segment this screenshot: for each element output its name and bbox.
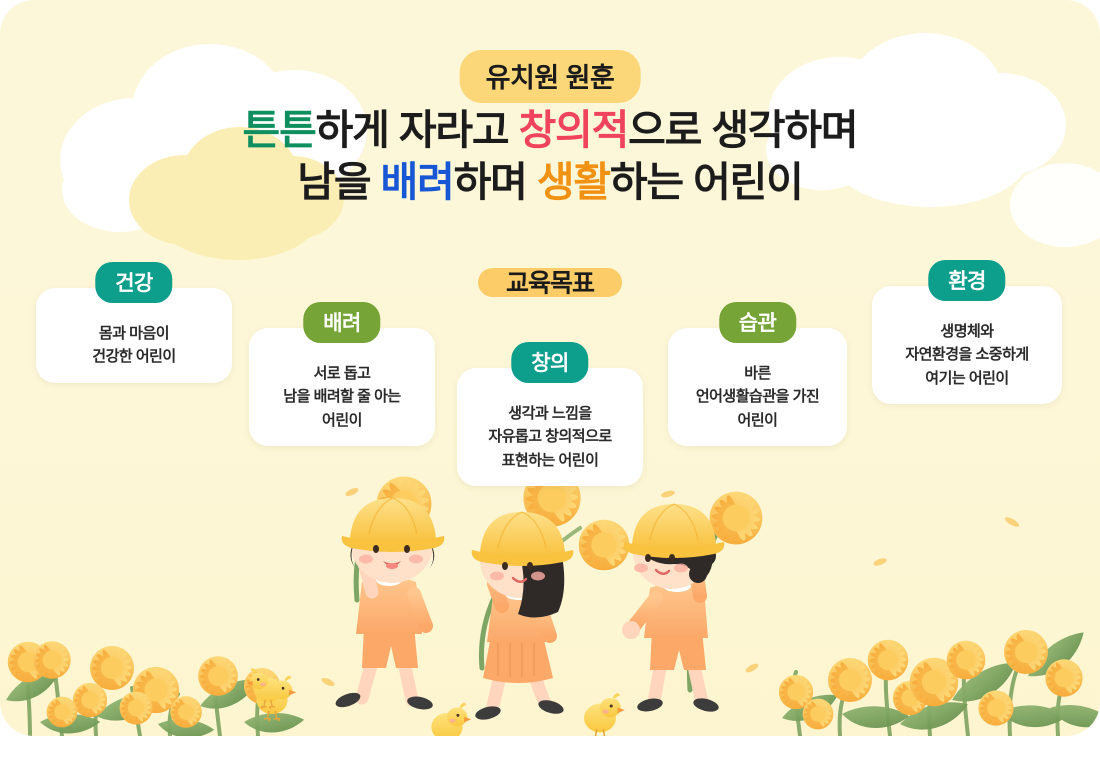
goal-line: 바른 [680,362,835,385]
slogan-keyword-healthy: 튼튼 [243,107,316,153]
slogan: 튼튼하게 자라고 창의적으로 생각하며 남을 배려하며 생활하는 어린이 [0,104,1100,209]
slogan-text-1b: 으로 생각하며 [628,107,857,153]
goal-line: 서로 돕고 [261,362,423,385]
motto-badge: 유치원 원훈 [460,50,641,103]
goal-card-habit[interactable]: 습관 바른 언어생활습관을 가진 어린이 [668,328,847,446]
goal-body-habit: 바른 언어생활습관을 가진 어린이 [668,328,847,446]
goal-line: 자유롭고 창의적으로 [469,425,631,448]
slogan-text-1a: 하게 자라고 [316,107,519,153]
goal-line: 생명체와 [884,320,1050,343]
goal-badge-habit: 습관 [719,302,796,343]
goal-badge-health: 건강 [95,262,172,303]
kindergarten-motto-poster: 유치원 원훈 튼튼하게 자라고 창의적으로 생각하며 남을 배려하며 생활하는 … [0,0,1100,776]
slogan-text-2b: 하며 [454,159,537,205]
goal-card-consideration[interactable]: 배려 서로 돕고 남을 배려할 줄 아는 어린이 [249,328,435,446]
slogan-keyword-consideration: 배려 [381,159,454,205]
child-boy-raising-flower-icon [334,473,445,712]
goal-line: 표현하는 어린이 [469,449,631,472]
dandelion-flowers-left-icon [1,641,305,736]
goal-body-creativity: 생각과 느낌을 자유롭고 창의적으로 표현하는 어린이 [457,368,643,486]
goal-badge-label-habit: 습관 [739,312,776,335]
motto-badge-label: 유치원 원훈 [486,63,615,93]
goal-line: 언어생활습관을 가진 [680,385,835,408]
slogan-keyword-life: 생활 [537,159,610,205]
goal-line: 건강한 어린이 [48,345,220,368]
child-boy-walking-flower-icon [622,489,765,714]
goal-badge-label-health: 건강 [115,272,152,295]
goal-body-consideration: 서로 돕고 남을 배려할 줄 아는 어린이 [249,328,435,446]
slogan-keyword-creative: 창의적 [519,107,629,153]
goal-line: 여기는 어린이 [884,367,1050,390]
goal-card-health[interactable]: 건강 몸과 마음이 건강한 어린이 [36,288,232,383]
goal-line: 어린이 [261,409,423,432]
goal-line: 몸과 마음이 [48,322,220,345]
slogan-line-1: 튼튼하게 자라고 창의적으로 생각하며 [0,104,1100,156]
goal-line: 어린이 [680,409,835,432]
slogan-text-2c: 하는 어린이 [610,159,803,205]
chick-right-icon [584,693,625,736]
goal-card-creativity[interactable]: 창의 생각과 느낌을 자유롭고 창의적으로 표현하는 어린이 [457,368,643,486]
chick-left-icon [256,676,296,721]
goal-badge-creativity: 창의 [511,342,588,383]
dandelion-flowers-right-icon [779,628,1100,736]
goal-line: 자연환경을 소중하게 [884,343,1050,366]
goal-card-environment[interactable]: 환경 생명체와 자연환경을 소중하게 여기는 어린이 [872,286,1062,404]
goal-line: 남을 배려할 줄 아는 [261,385,423,408]
goal-badge-environment: 환경 [928,260,1005,301]
goal-badge-label-creativity: 창의 [531,352,568,375]
chick-far-left-icon [246,668,282,709]
goal-line: 생각과 느낌을 [469,402,631,425]
education-goals-label: 교육목표 [478,268,622,297]
goal-badge-consideration: 배려 [303,302,380,343]
floating-petals-icon [320,486,1080,736]
slogan-line-2: 남을 배려하며 생활하는 어린이 [0,156,1100,208]
goal-badge-label-consideration: 배려 [323,312,360,335]
slogan-text-2a: 남을 [297,159,380,205]
education-goals-label-text: 교육목표 [506,263,594,299]
goal-body-environment: 생명체와 자연환경을 소중하게 여기는 어린이 [872,286,1062,404]
goal-badge-label-environment: 환경 [948,270,985,293]
child-girl-holding-flower-icon [472,469,630,722]
chick-center-icon [431,703,471,736]
